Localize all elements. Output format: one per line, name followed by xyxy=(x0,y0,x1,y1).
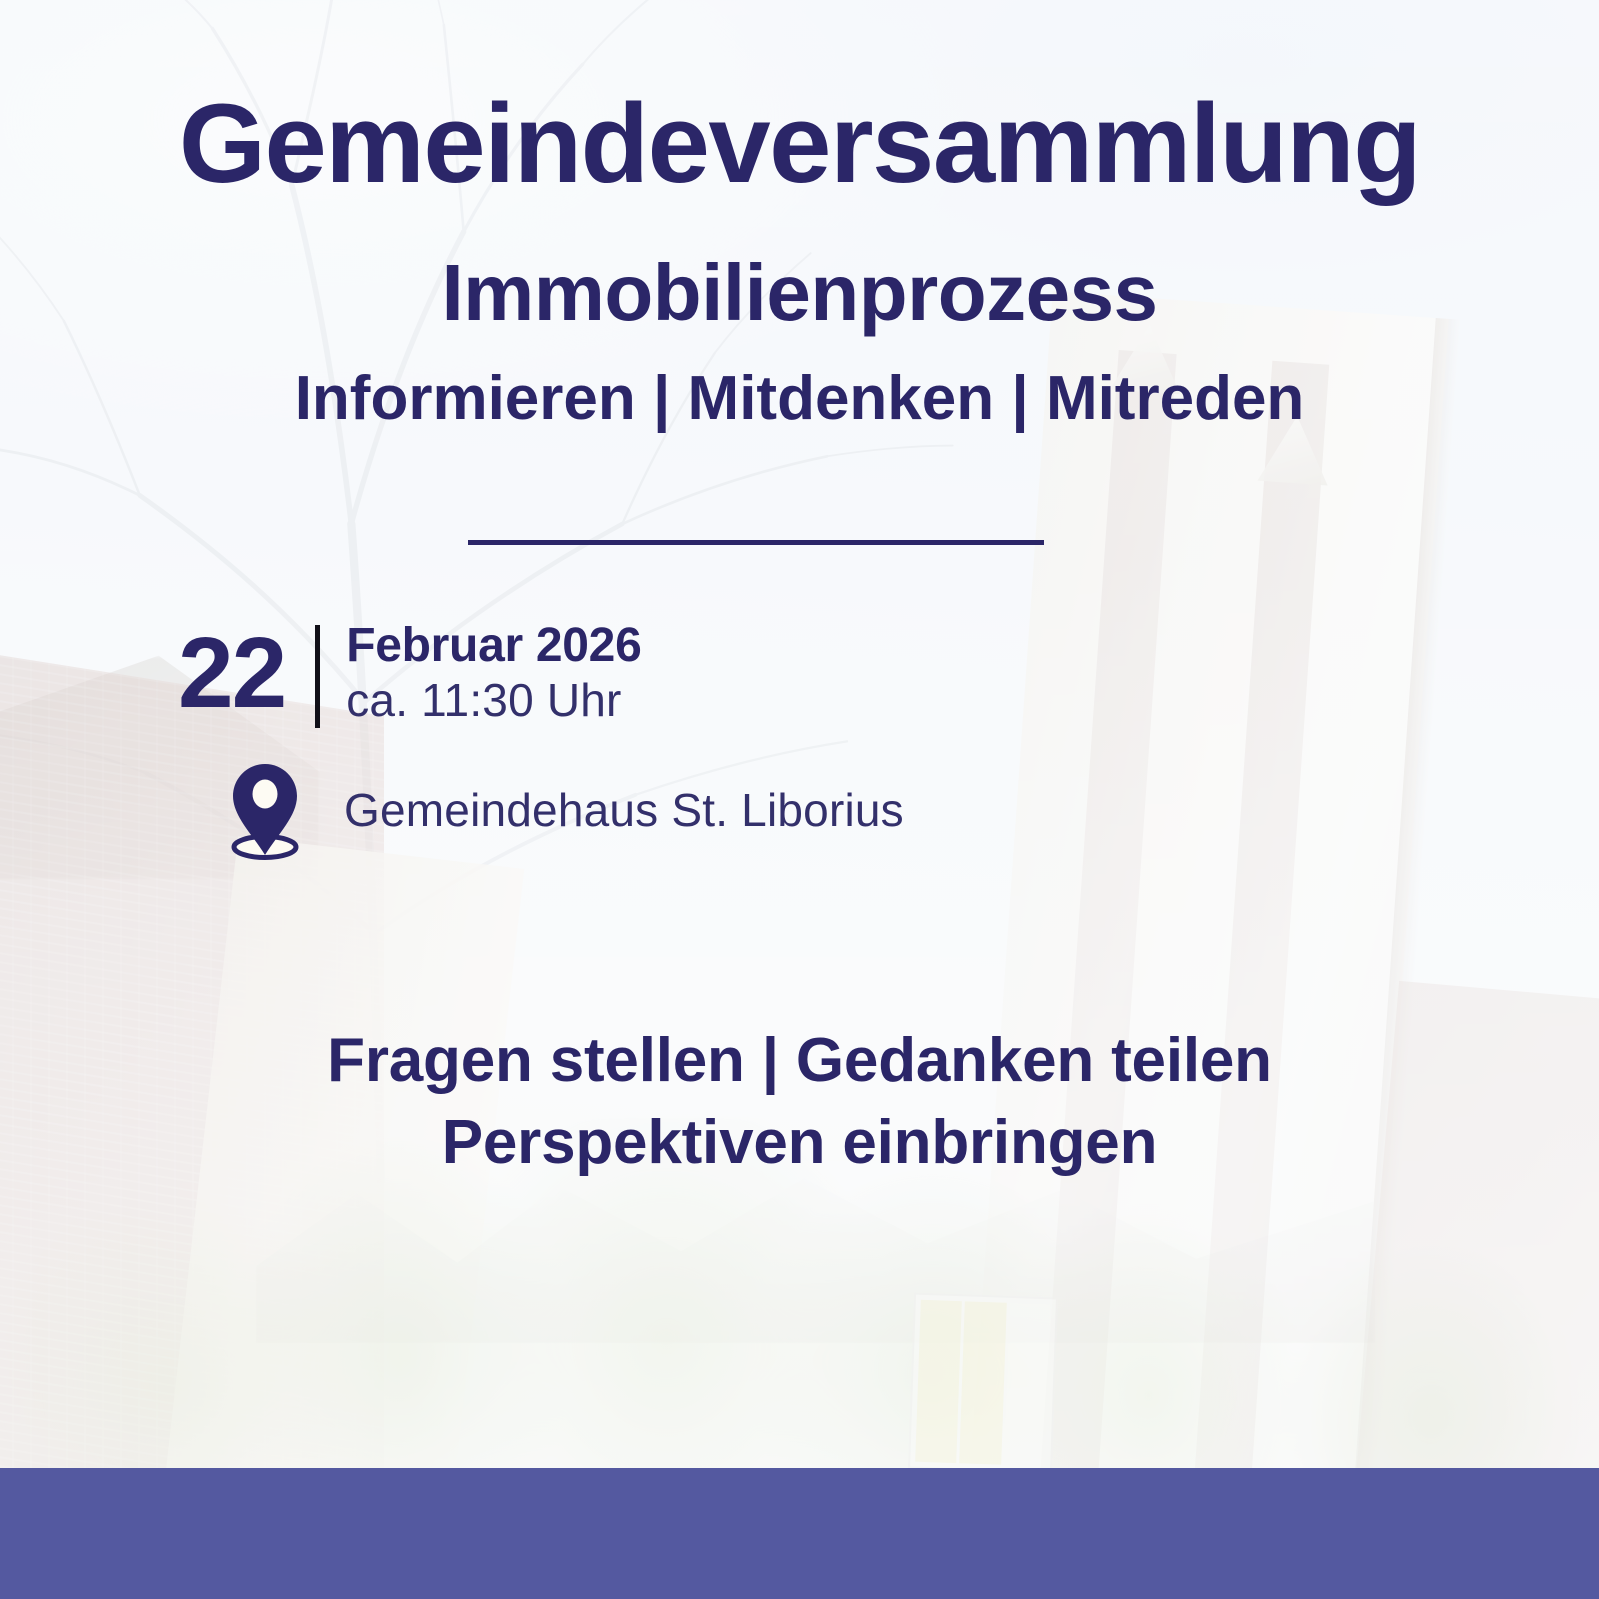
poster-content: Gemeindeversammlung Immobilienprozess In… xyxy=(0,0,1599,1599)
poster-title: Gemeindeversammlung xyxy=(0,88,1599,200)
event-month-year: Februar 2026 xyxy=(346,619,641,673)
event-venue-block: Gemeindehaus St. Liborius xyxy=(228,760,904,860)
event-date-block: 22 Februar 2026 ca. 11:30 Uhr xyxy=(178,614,641,732)
horizontal-divider xyxy=(468,540,1044,545)
event-time: ca. 11:30 Uhr xyxy=(346,673,641,727)
event-date-text: Februar 2026 ca. 11:30 Uhr xyxy=(320,614,641,732)
map-pin-icon xyxy=(228,760,302,860)
event-day-number: 22 xyxy=(178,614,315,732)
event-poster: Gemeindeversammlung Immobilienprozess In… xyxy=(0,0,1599,1599)
poster-tagline: Informieren | Mitdenken | Mitreden xyxy=(0,368,1599,430)
cta-line-2: Perspektiven einbringen xyxy=(0,1102,1599,1184)
call-to-action: Fragen stellen | Gedanken teilen Perspek… xyxy=(0,1020,1599,1184)
poster-subtitle: Immobilienprozess xyxy=(0,253,1599,333)
bottom-color-bar xyxy=(0,1468,1599,1599)
event-venue-name: Gemeindehaus St. Liborius xyxy=(344,785,904,836)
cta-line-1: Fragen stellen | Gedanken teilen xyxy=(0,1020,1599,1102)
